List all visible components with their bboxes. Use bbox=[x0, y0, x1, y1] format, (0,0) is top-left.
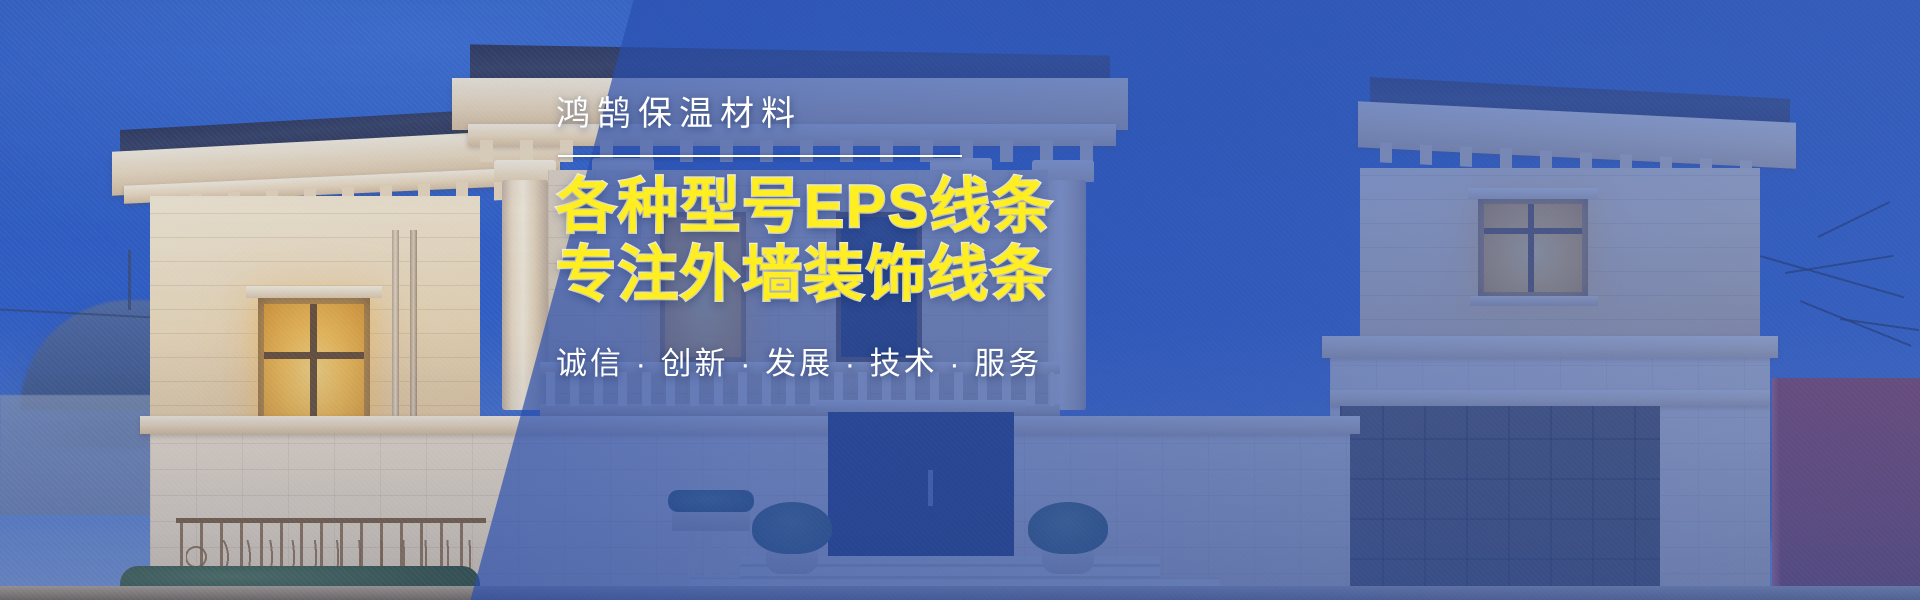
headline-line-1: 各种型号EPS线条 bbox=[556, 173, 1256, 240]
headline-line-2: 专注外墙装饰线条 bbox=[556, 241, 1256, 308]
promo-banner: 鸿鹄保温材料 各种型号EPS线条 专注外墙装饰线条 诚信 · 创新 · 发展 ·… bbox=[0, 0, 1920, 600]
brand-name: 鸿鹄保温材料 bbox=[556, 96, 1256, 133]
banner-text-block: 鸿鹄保温材料 各种型号EPS线条 专注外墙装饰线条 诚信 · 创新 · 发展 ·… bbox=[556, 96, 1256, 383]
title-divider bbox=[558, 155, 962, 157]
value-tagline: 诚信 · 创新 · 发展 · 技术 · 服务 bbox=[556, 338, 1256, 383]
